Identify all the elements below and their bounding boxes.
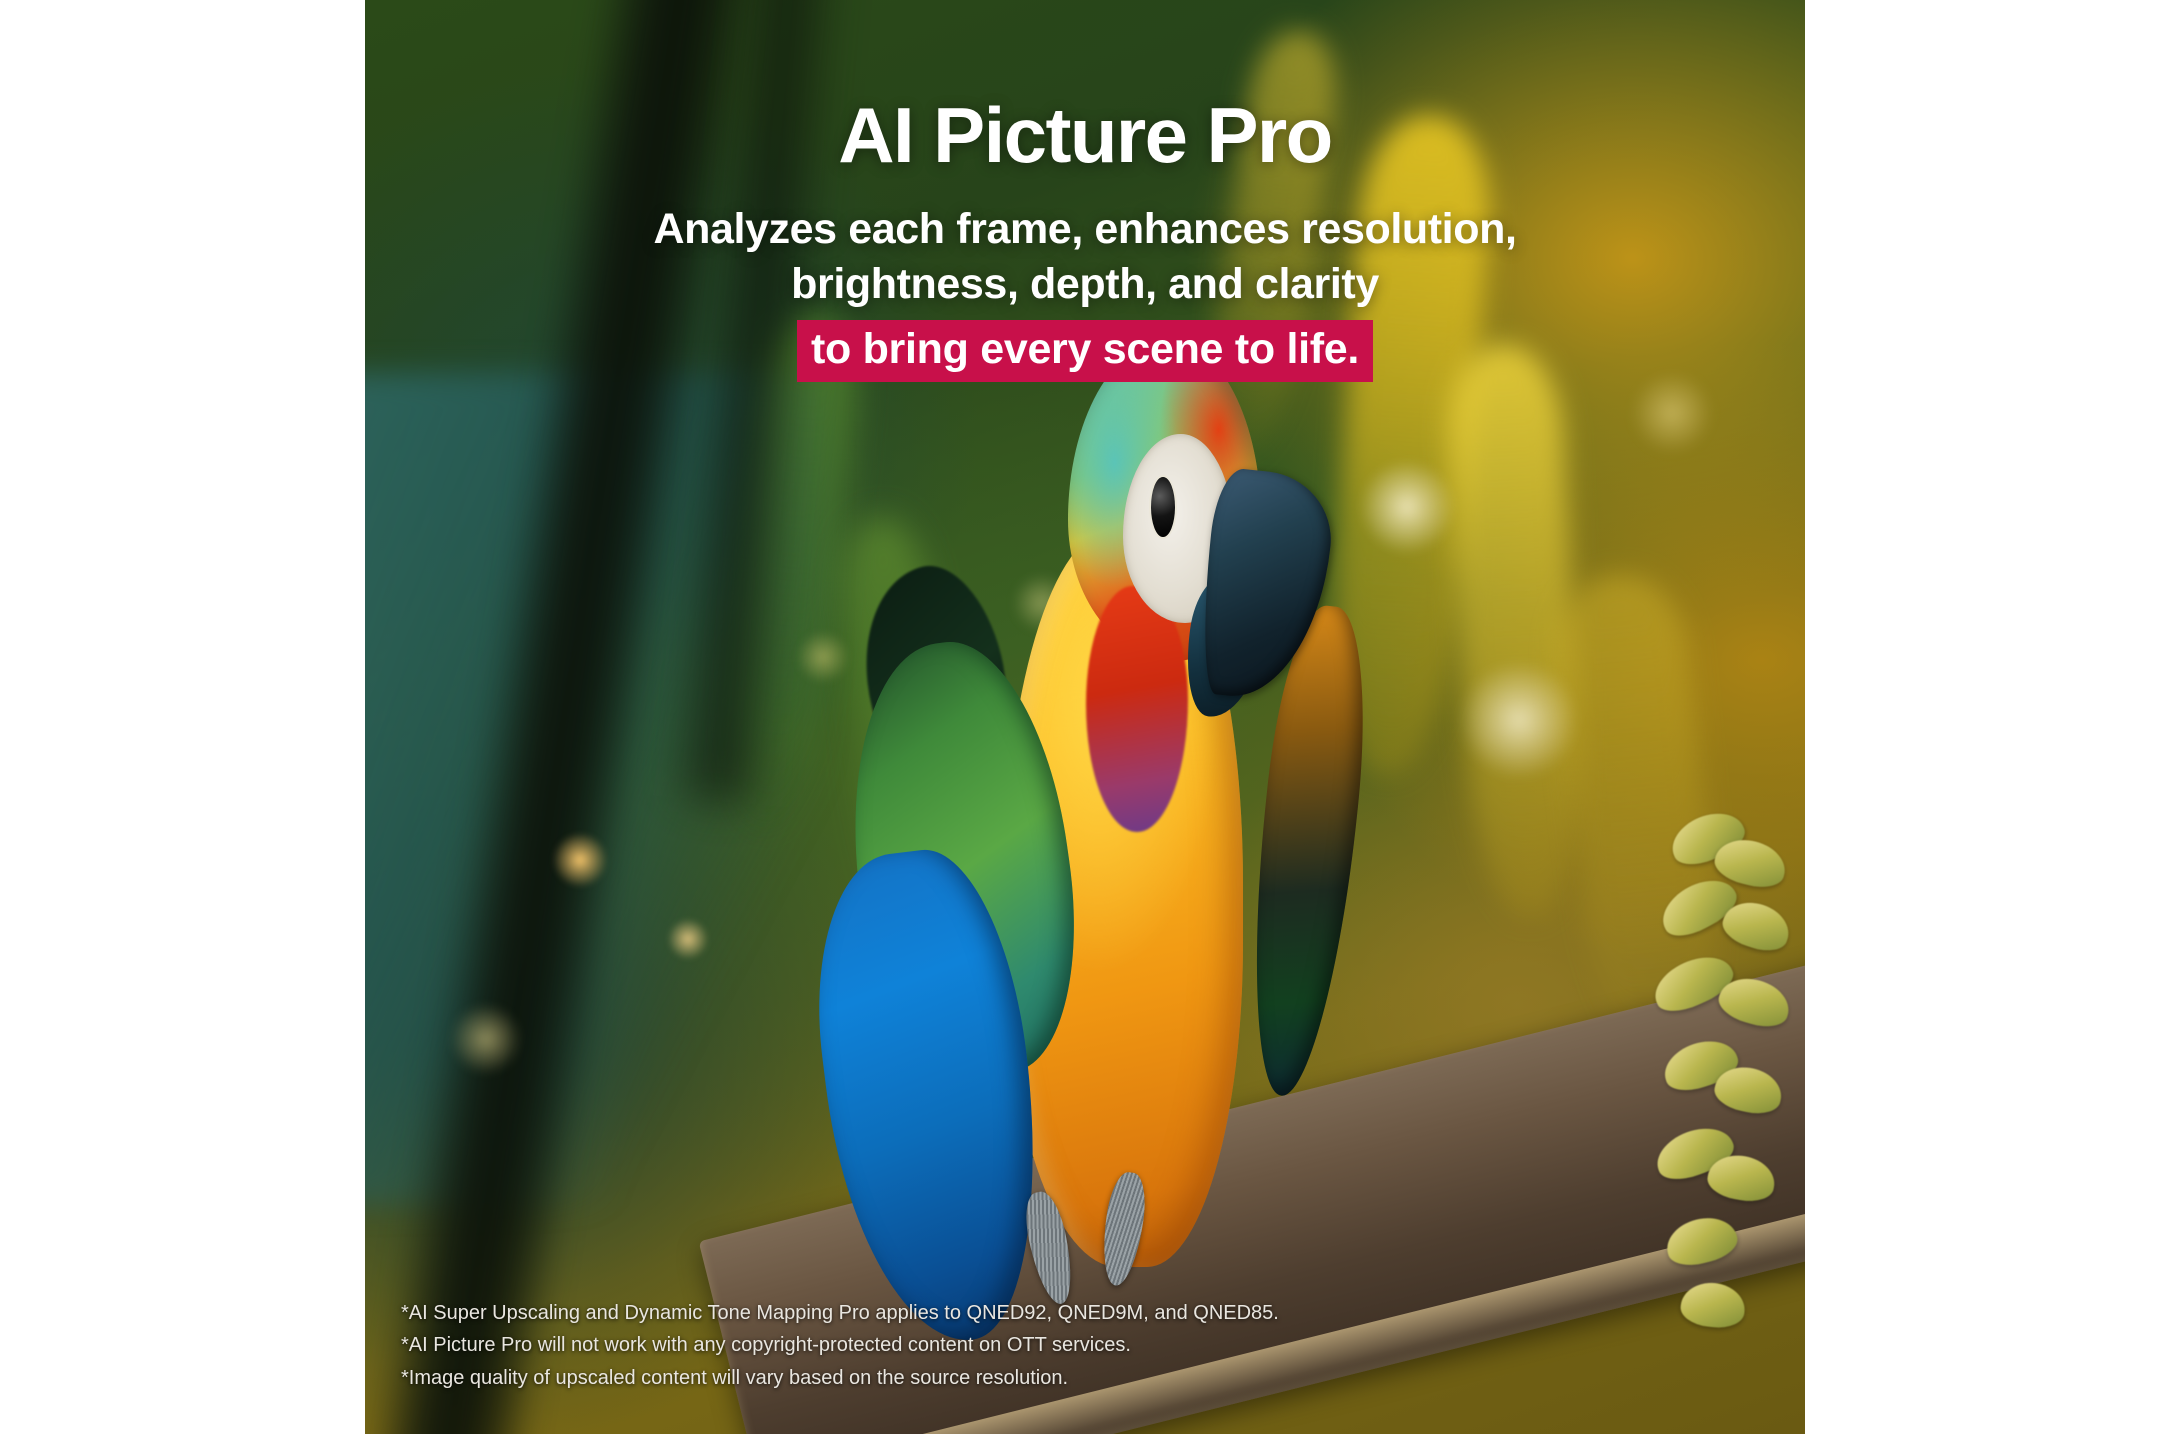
highlight-row: to bring every scene to life.: [365, 320, 1805, 382]
macaw-parrot: [883, 359, 1344, 1305]
highlight-text: to bring every scene to life.: [797, 320, 1373, 382]
footnotes: *AI Super Upscaling and Dynamic Tone Map…: [401, 1297, 1726, 1394]
footnote-1: *AI Super Upscaling and Dynamic Tone Map…: [401, 1297, 1726, 1329]
subtitle-line-1: Analyzes each frame, enhances resolution…: [495, 202, 1675, 257]
subtitle-line-2: brightness, depth, and clarity: [495, 257, 1675, 312]
page-root: AI Picture Pro Analyzes each frame, enha…: [0, 0, 2160, 1434]
ai-picture-pro-banner: AI Picture Pro Analyzes each frame, enha…: [365, 0, 1805, 1434]
seed-pod: [1662, 1212, 1742, 1272]
hero-text-block: AI Picture Pro Analyzes each frame, enha…: [365, 0, 1805, 382]
page-title: AI Picture Pro: [365, 96, 1805, 176]
parrot-eye: [1151, 477, 1175, 538]
footnote-2: *AI Picture Pro will not work with any c…: [401, 1329, 1726, 1361]
footnote-3: *Image quality of upscaled content will …: [401, 1362, 1726, 1394]
parrot-throat: [1086, 586, 1187, 832]
